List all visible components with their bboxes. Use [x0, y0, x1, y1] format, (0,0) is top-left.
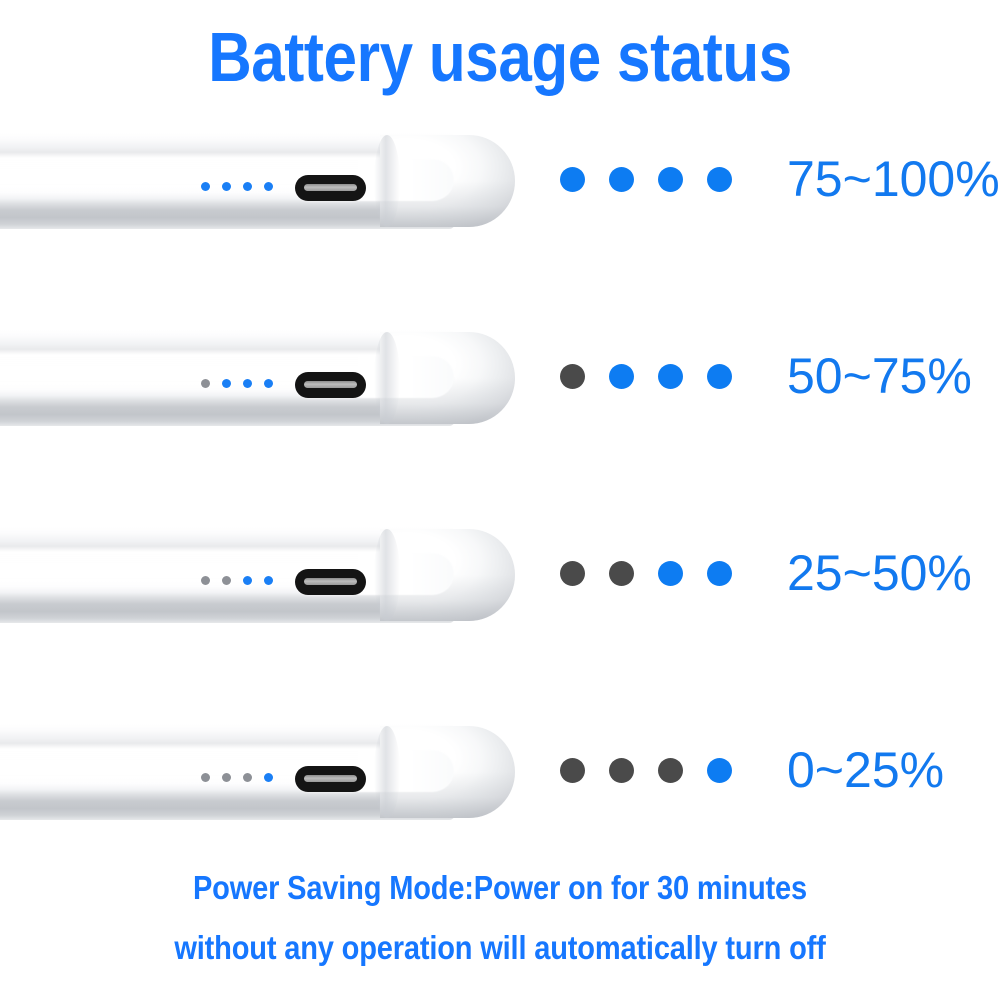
battery-range-label: 0~25% — [787, 745, 944, 795]
stylus-cap-inset — [358, 553, 454, 595]
battery-dot — [707, 364, 732, 389]
battery-dot-group — [560, 364, 732, 389]
stylus-cap-seam — [374, 529, 400, 621]
battery-status-row: 75~100% — [0, 125, 1000, 255]
pen-led-indicator — [243, 576, 252, 585]
battery-level-indicator: 25~50% — [560, 533, 972, 613]
battery-dot — [609, 758, 634, 783]
stylus-illustration — [0, 330, 515, 426]
battery-level-indicator: 0~25% — [560, 730, 944, 810]
stylus-cap-seam — [374, 332, 400, 424]
battery-dot — [658, 364, 683, 389]
usb-c-port-icon — [295, 766, 366, 792]
pen-led-indicator — [201, 773, 210, 782]
battery-dot-group — [560, 758, 732, 783]
battery-dot — [609, 167, 634, 192]
battery-dot — [707, 758, 732, 783]
pen-led-indicator — [264, 182, 273, 191]
pen-led-strip — [201, 182, 273, 191]
stylus-illustration — [0, 724, 515, 820]
battery-level-indicator: 75~100% — [560, 139, 1000, 219]
battery-dot — [658, 758, 683, 783]
battery-dot — [609, 364, 634, 389]
battery-dot — [560, 364, 585, 389]
stylus-cap-inset — [358, 159, 454, 201]
pen-led-strip — [201, 773, 273, 782]
stylus-cap-inset — [358, 750, 454, 792]
stylus-illustration — [0, 133, 515, 229]
power-saving-note-line-2: without any operation will automatically… — [60, 918, 940, 978]
pen-led-indicator — [201, 576, 210, 585]
stylus-illustration — [0, 527, 515, 623]
battery-dot — [658, 167, 683, 192]
battery-dot — [707, 561, 732, 586]
stylus-cap-inset — [358, 356, 454, 398]
usb-c-port-icon — [295, 569, 366, 595]
pen-led-indicator — [222, 182, 231, 191]
battery-status-row: 50~75% — [0, 322, 1000, 452]
battery-dot — [560, 167, 585, 192]
power-saving-note: Power Saving Mode:Power on for 30 minute… — [0, 858, 1000, 978]
battery-range-label: 75~100% — [787, 154, 1000, 204]
battery-dot — [609, 561, 634, 586]
power-saving-note-line-1: Power Saving Mode:Power on for 30 minute… — [60, 858, 940, 918]
usb-c-port-slot — [304, 184, 357, 191]
battery-range-label: 50~75% — [787, 351, 972, 401]
pen-led-indicator — [222, 773, 231, 782]
battery-level-indicator: 50~75% — [560, 336, 972, 416]
usb-c-port-slot — [304, 775, 357, 782]
pen-led-strip — [201, 379, 273, 388]
pen-led-indicator — [243, 773, 252, 782]
pen-led-indicator — [264, 379, 273, 388]
battery-dot — [560, 561, 585, 586]
stylus-cap-seam — [374, 726, 400, 818]
battery-dot — [707, 167, 732, 192]
pen-led-indicator — [243, 379, 252, 388]
usb-c-port-icon — [295, 175, 366, 201]
pen-led-indicator — [243, 182, 252, 191]
battery-dot — [658, 561, 683, 586]
pen-led-indicator — [201, 182, 210, 191]
battery-dot-group — [560, 167, 732, 192]
pen-led-indicator — [264, 576, 273, 585]
battery-range-label: 25~50% — [787, 548, 972, 598]
battery-status-row: 25~50% — [0, 519, 1000, 649]
pen-led-indicator — [222, 379, 231, 388]
usb-c-port-icon — [295, 372, 366, 398]
battery-dot — [560, 758, 585, 783]
battery-dot-group — [560, 561, 732, 586]
pen-led-indicator — [222, 576, 231, 585]
battery-status-row: 0~25% — [0, 716, 1000, 846]
pen-led-strip — [201, 576, 273, 585]
pen-led-indicator — [201, 379, 210, 388]
page-title: Battery usage status — [70, 16, 930, 99]
usb-c-port-slot — [304, 381, 357, 388]
stylus-cap-seam — [374, 135, 400, 227]
usb-c-port-slot — [304, 578, 357, 585]
pen-led-indicator — [264, 773, 273, 782]
